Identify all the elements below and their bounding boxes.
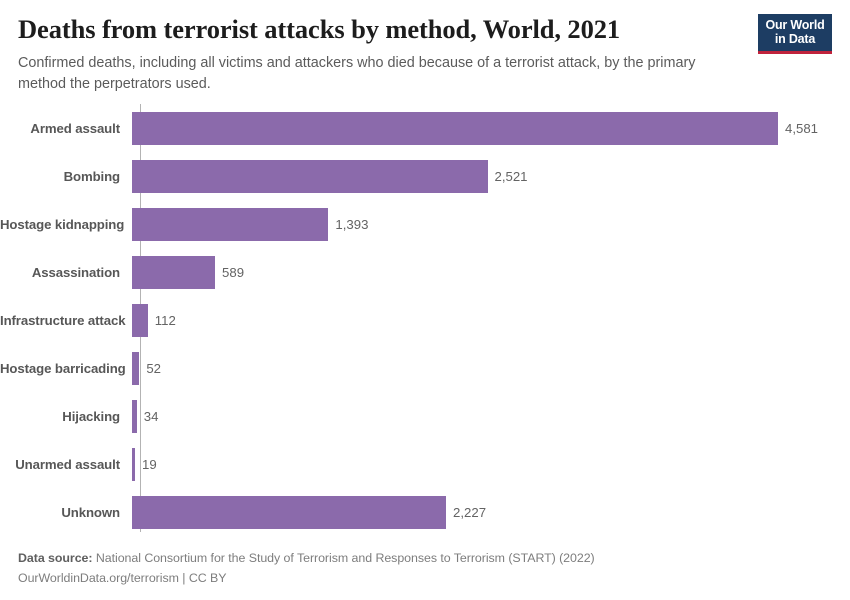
bar-category-label: Unarmed assault xyxy=(0,457,130,472)
bar-track: 19 xyxy=(132,448,850,481)
bar[interactable] xyxy=(132,112,778,145)
chart-subtitle: Confirmed deaths, including all victims … xyxy=(18,53,728,94)
bar-category-label: Hostage kidnapping xyxy=(0,217,130,232)
bar-category-label: Hostage barricading xyxy=(0,361,130,376)
bar[interactable] xyxy=(132,304,148,337)
bar-category-label: Unknown xyxy=(0,505,130,520)
bar-row[interactable]: Assassination589 xyxy=(0,248,850,296)
bar-row[interactable]: Unknown2,227 xyxy=(0,488,850,536)
bar-row[interactable]: Hostage kidnapping1,393 xyxy=(0,200,850,248)
bar-track: 52 xyxy=(132,352,850,385)
data-source-text: National Consortium for the Study of Ter… xyxy=(92,551,594,565)
bar-value-label: 52 xyxy=(146,361,161,376)
logo-line-2: in Data xyxy=(758,32,832,46)
bar[interactable] xyxy=(132,448,135,481)
bar-category-label: Infrastructure attack xyxy=(0,313,130,328)
bar[interactable] xyxy=(132,352,139,385)
license-line[interactable]: OurWorldinData.org/terrorism | CC BY xyxy=(18,568,818,588)
bar-value-label: 1,393 xyxy=(335,217,368,232)
bar-category-label: Armed assault xyxy=(0,121,130,136)
bar-row[interactable]: Bombing2,521 xyxy=(0,152,850,200)
bar-row[interactable]: Hostage barricading52 xyxy=(0,344,850,392)
bar-track: 2,227 xyxy=(132,496,850,529)
chart-page: Deaths from terrorist attacks by method,… xyxy=(0,0,850,600)
chart-header: Deaths from terrorist attacks by method,… xyxy=(0,0,850,94)
bar-category-label: Assassination xyxy=(0,265,130,280)
bar-chart: Armed assault4,581Bombing2,521Hostage ki… xyxy=(0,104,850,534)
bar-track: 34 xyxy=(132,400,850,433)
bar-value-label: 2,227 xyxy=(453,505,486,520)
bar-track: 1,393 xyxy=(132,208,850,241)
data-source-label: Data source: xyxy=(18,551,92,565)
bar-track: 112 xyxy=(132,304,850,337)
bar-value-label: 2,521 xyxy=(495,169,528,184)
bar-row[interactable]: Armed assault4,581 xyxy=(0,104,850,152)
bar-value-label: 112 xyxy=(155,313,176,328)
bar-track: 4,581 xyxy=(132,112,850,145)
bar[interactable] xyxy=(132,496,446,529)
logo-line-1: Our World xyxy=(758,18,832,32)
bar-value-label: 4,581 xyxy=(785,121,818,136)
data-source-line: Data source: National Consortium for the… xyxy=(18,548,818,568)
bar-value-label: 19 xyxy=(142,457,157,472)
bar-track: 589 xyxy=(132,256,850,289)
page-title: Deaths from terrorist attacks by method,… xyxy=(18,14,832,44)
bar-row[interactable]: Unarmed assault19 xyxy=(0,440,850,488)
bar-category-label: Hijacking xyxy=(0,409,130,424)
bar-value-label: 589 xyxy=(222,265,244,280)
bar[interactable] xyxy=(132,256,215,289)
bar-track: 2,521 xyxy=(132,160,850,193)
bar-row[interactable]: Hijacking34 xyxy=(0,392,850,440)
bar[interactable] xyxy=(132,160,488,193)
bar-row[interactable]: Infrastructure attack112 xyxy=(0,296,850,344)
our-world-in-data-logo[interactable]: Our World in Data xyxy=(758,14,832,54)
bar[interactable] xyxy=(132,400,137,433)
bar[interactable] xyxy=(132,208,328,241)
bar-value-label: 34 xyxy=(144,409,159,424)
bar-category-label: Bombing xyxy=(0,169,130,184)
chart-footer: Data source: National Consortium for the… xyxy=(18,548,818,588)
